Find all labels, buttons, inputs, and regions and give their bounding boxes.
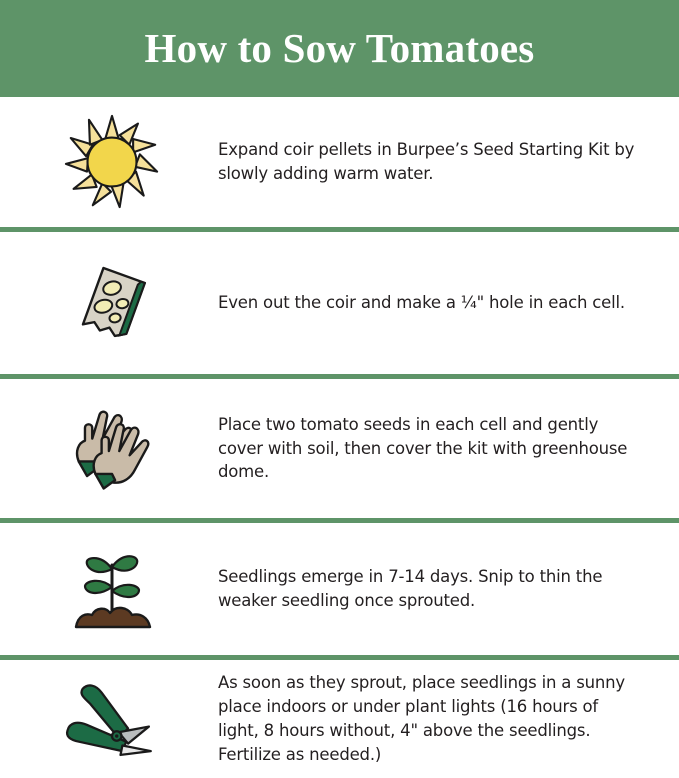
step-4-text-cell: Seedlings emerge in 7-14 days. Snip to t… bbox=[218, 565, 679, 613]
step-4-text: Seedlings emerge in 7-14 days. Snip to t… bbox=[218, 565, 638, 613]
seed-packet-icon bbox=[62, 253, 162, 353]
step-5-text: As soon as they sprout, place seedlings … bbox=[218, 671, 638, 767]
step-row-3: Place two tomato seeds in each cell and … bbox=[0, 379, 679, 518]
step-2-text: Even out the coir and make a ¼" hole in … bbox=[218, 291, 638, 315]
step-row-2: Even out the coir and make a ¼" hole in … bbox=[0, 232, 679, 374]
step-3-icon-cell bbox=[0, 397, 218, 501]
step-4-icon-cell bbox=[0, 539, 218, 639]
step-1-text: Expand coir pellets in Burpee’s Seed Sta… bbox=[218, 138, 638, 186]
step-3-text: Place two tomato seeds in each cell and … bbox=[218, 413, 638, 485]
sun-icon bbox=[64, 114, 160, 210]
step-row-1: Expand coir pellets in Burpee’s Seed Sta… bbox=[0, 97, 679, 227]
step-row-4: Seedlings emerge in 7-14 days. Snip to t… bbox=[0, 523, 679, 655]
header-banner: How to Sow Tomatoes bbox=[0, 0, 679, 97]
step-5-text-cell: As soon as they sprout, place seedlings … bbox=[218, 671, 679, 767]
step-row-5: As soon as they sprout, place seedlings … bbox=[0, 660, 679, 778]
step-3-text-cell: Place two tomato seeds in each cell and … bbox=[218, 413, 679, 485]
infographic-how-to-sow-tomatoes: How to Sow Tomatoes bbox=[0, 0, 679, 773]
page-title: How to Sow Tomatoes bbox=[135, 28, 545, 69]
step-2-text-cell: Even out the coir and make a ¼" hole in … bbox=[218, 291, 679, 315]
step-1-text-cell: Expand coir pellets in Burpee’s Seed Sta… bbox=[218, 138, 679, 186]
pruning-shears-icon bbox=[60, 669, 164, 769]
step-1-icon-cell bbox=[0, 114, 218, 210]
gardening-gloves-icon bbox=[60, 397, 164, 501]
step-2-icon-cell bbox=[0, 253, 218, 353]
step-5-icon-cell bbox=[0, 669, 218, 769]
seedling-sprout-icon bbox=[62, 539, 162, 639]
